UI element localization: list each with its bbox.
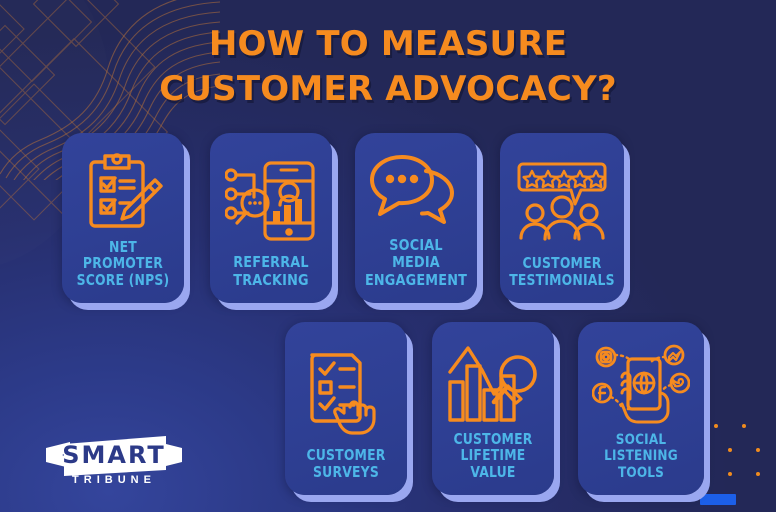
card-referral-tracking[interactable]: REFERRAL TRACKING <box>210 133 332 303</box>
bar-chart-magnifier-icon <box>432 336 554 431</box>
card-social-listening-tools[interactable]: SOCIAL LISTENING TOOLS <box>578 322 704 495</box>
card-label: SOCIAL MEDIA ENGAGEMENT <box>360 237 472 303</box>
logo-wordmark: SMART <box>62 441 166 469</box>
card-social-media-engagement[interactable]: SOCIAL MEDIA ENGAGEMENT <box>355 133 477 303</box>
card-customer-testimonials[interactable]: CUSTOMER TESTIMONIALS <box>500 133 624 303</box>
blue-rectangle-bar <box>700 494 736 505</box>
smartphone-network-analytics-icon <box>210 147 332 254</box>
card-label: CUSTOMER SURVEYS <box>290 447 402 495</box>
card-label: REFERRAL TRACKING <box>215 254 327 303</box>
card-label: CUSTOMER LIFETIME VALUE <box>437 431 549 495</box>
speech-bubbles-icon <box>355 147 477 237</box>
infographic-canvas: HOW TO MEASURE CUSTOMER ADVOCACY? NET PR… <box>0 0 776 512</box>
card-customer-surveys[interactable]: CUSTOMER SURVEYS <box>285 322 407 495</box>
card-customer-lifetime-value[interactable]: CUSTOMER LIFETIME VALUE <box>432 322 554 495</box>
card-label: NET PROMOTER SCORE (NPS) <box>67 239 179 303</box>
card-label: SOCIAL LISTENING TOOLS <box>583 432 699 495</box>
survey-checklist-hand-icon <box>285 336 407 447</box>
card-net-promoter-score[interactable]: NET PROMOTER SCORE (NPS) <box>62 133 184 303</box>
page-title-line-1: HOW TO MEASURE <box>209 24 567 64</box>
card-label: CUSTOMER TESTIMONIALS <box>505 255 619 303</box>
page-title: HOW TO MEASURE CUSTOMER ADVOCACY? <box>0 22 776 112</box>
page-title-line-2: CUSTOMER ADVOCACY? <box>0 67 776 112</box>
clipboard-checklist-pencil-icon <box>62 147 184 239</box>
five-star-review-people-icon <box>500 147 624 255</box>
logo-tagline: TRIBUNE <box>44 474 184 486</box>
hand-phone-social-icons-icon <box>578 336 704 432</box>
